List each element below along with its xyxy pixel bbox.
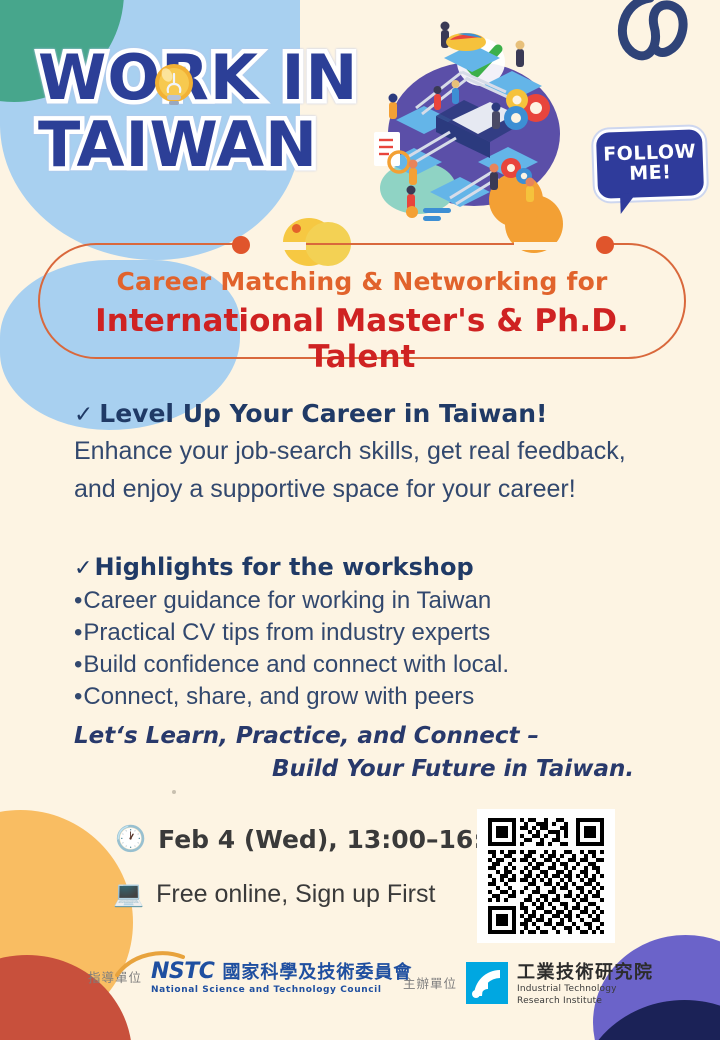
title-line-1: WORK IN — [38, 48, 368, 109]
organizer-unit-group: 主辦單位 工業技術研究院 Industrial Technology Resea… — [403, 958, 654, 1007]
event-date-row: 🕐 Feb 4 (Wed), 13:00–16:30 — [115, 825, 518, 854]
list-item: •Connect, share, and grow with peers — [74, 681, 674, 713]
closing-statement: Let‘s Learn, Practice, and Connect – Bui… — [74, 720, 674, 787]
nstc-chinese-name: 國家科學及技術委員會 — [222, 958, 412, 984]
clock-icon: 🕐 — [115, 827, 146, 852]
itri-logo-mark — [466, 962, 508, 1004]
dot-neutral-tiny — [172, 790, 176, 794]
bullet-icon: • — [74, 619, 82, 646]
lead-heading-row: ✓Level Up Your Career in Taiwan! — [74, 398, 674, 431]
footer-logos: 指導單位 NSTC 國家科學及技術委員會 National Science an… — [0, 952, 720, 1012]
banner-subtitle-line-2: International Master's & Ph.D. Talent — [40, 303, 684, 375]
banner-subtitle-line-1: Career Matching & Networking for — [40, 267, 684, 296]
follow-me-badge[interactable]: FOLLOW ME! — [593, 126, 707, 202]
event-access-text: Free online, Sign up First — [156, 880, 435, 909]
check-icon: ✓ — [74, 556, 92, 581]
follow-line-2: ME! — [629, 163, 672, 184]
closing-line-1: Let‘s Learn, Practice, and Connect – — [74, 723, 539, 749]
qr-code[interactable] — [477, 809, 615, 943]
banner-gap-right — [514, 242, 600, 250]
list-item-label: Connect, share, and grow with peers — [83, 683, 474, 710]
lead-heading-text: Level Up Your Career in Taiwan! — [99, 399, 547, 428]
nstc-primary-row: NSTC 國家科學及技術委員會 — [151, 958, 412, 984]
banner-gap-left — [246, 242, 306, 250]
subtitle-banner: Career Matching & Networking for Interna… — [38, 243, 686, 359]
itri-chinese-name: 工業技術研究院 — [517, 958, 654, 984]
check-icon: ✓ — [74, 402, 93, 428]
nstc-logo: NSTC 國家科學及技術委員會 National Science and Tec… — [151, 958, 412, 995]
list-item: •Career guidance for working in Taiwan — [74, 585, 674, 617]
isometric-career-illustration — [366, 16, 578, 228]
poster-title: WORK IN TAIWAN — [38, 48, 368, 176]
nstc-english-name: National Science and Technology Council — [151, 985, 412, 995]
body-copy: ✓Level Up Your Career in Taiwan! Enhance… — [74, 398, 674, 713]
bubble-tail — [620, 194, 637, 215]
closing-line-2: Build Your Future in Taiwan. — [74, 753, 674, 786]
lead-body-line-2: and enjoy a supportive space for your ca… — [74, 471, 674, 507]
laptop-icon: 💻 — [113, 882, 144, 907]
bullet-icon: • — [74, 651, 82, 678]
lead-body-line-1: Enhance your job-search skills, get real… — [74, 433, 674, 469]
list-item-label: Practical CV tips from industry experts — [83, 619, 490, 646]
poster-canvas: WORK IN TAIWAN FOLLOW ME! Career Matchin… — [0, 0, 720, 1040]
lightbulb-icon — [152, 62, 196, 110]
dot-orange-small — [292, 224, 301, 233]
bullet-icon: • — [74, 587, 82, 614]
highlights-heading-row: ✓Highlights for the workshop — [74, 553, 674, 581]
event-access-row: 💻 Free online, Sign up First — [113, 880, 435, 909]
itri-logo-text: 工業技術研究院 Industrial Technology Research I… — [517, 958, 654, 1007]
organizer-unit-label: 主辦單位 — [403, 973, 457, 992]
list-item: •Practical CV tips from industry experts — [74, 617, 674, 649]
highlights-heading-text: Highlights for the workshop — [94, 553, 473, 581]
banner-dot-right — [596, 236, 614, 254]
guidance-unit-group: 指導單位 NSTC 國家科學及技術委員會 National Science an… — [88, 958, 412, 995]
itri-signal-icon — [466, 962, 508, 1004]
nstc-swoosh-icon — [115, 951, 185, 977]
itri-english-line-2: Research Institute — [517, 996, 654, 1008]
banner-dot-left — [232, 236, 250, 254]
list-item: •Build confidence and connect with local… — [74, 649, 674, 681]
itri-english-line-1: Industrial Technology — [517, 984, 654, 996]
bullet-icon: • — [74, 683, 82, 710]
title-line-2: TAIWAN — [38, 115, 368, 176]
qr-code-matrix — [486, 818, 606, 934]
list-item-label: Career guidance for working in Taiwan — [83, 587, 491, 614]
event-date-text: Feb 4 (Wed), 13:00–16:30 — [158, 825, 518, 854]
list-item-label: Build confidence and connect with local. — [83, 651, 509, 678]
highlights-list: •Career guidance for working in Taiwan •… — [74, 585, 674, 713]
squiggle-decoration-icon — [592, 0, 702, 90]
